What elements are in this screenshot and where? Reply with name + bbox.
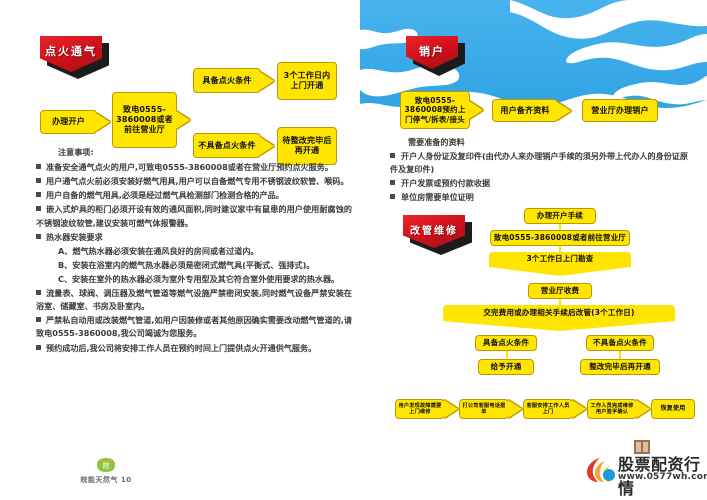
note-item: 预约成功后,我公司将安排工作人员在预约时间上门提供点火开通供气服务。 [36,342,352,355]
banner-cancel: 销户 [406,36,458,69]
note-text: 预约成功后,我公司将安排工作人员在预约时间上门提供点火开通供气服务。 [46,343,316,353]
left-notes: 注意事项: 准备安全通气点火的用户,可致电0555-3860008或者在营业厅预… [36,146,352,356]
cancel-flow-node-1-label: 致电0555-3860008预约上门停气/拆表/接头 [403,96,467,124]
right-note-item: 开户人身份证及复印件(由代办人来办理销户手续的须另外带上代办人的身份证原件及复印… [390,150,690,176]
repair-flow-node-3[interactable]: 3个工作日上门勘查 [489,252,631,276]
repair-branch-yes[interactable]: 具备点火条件 [475,335,537,351]
note-text: 嵌入式炉具的柜门必须开设有效的通风面积,同时建议家中有鼠患的用户使用耐腐蚀的不锈… [36,204,352,227]
connector-2 [559,246,561,252]
note-subitem: B、安装在浴室内的燃气热水器必须是密闭式燃气具(平衡式、强排式)。 [36,259,352,272]
note-subitem: C、安装在室外的热水器必须为室外专用型及其它符合室外使用要求的热水器。 [36,273,352,286]
banner-repair: 改管维修 [403,215,465,248]
note-item: 热水器安装要求 [36,231,352,244]
cancel-flow-node-3-label: 营业厅办理销户 [591,106,648,116]
flow-branch-yes-label: 具备点火条件 [202,76,251,86]
right-notes: 需要准备的资料 开户人身份证及复印件(由代办人来办理销户手续的须另外带上代办人的… [390,136,690,206]
repair-branch-no[interactable]: 不具备点火条件 [586,335,654,351]
repair-branch-no-result-label: 整改完毕后再开通 [589,362,651,371]
repair-flow-node-4[interactable]: 营业厅收费 [528,283,592,299]
repair-flow-node-5-label: 交完费用或办理相关手续后改管(3个工作日) [483,308,634,327]
bullet-square-icon [36,317,41,322]
banner-cancel-label: 销户 [419,43,445,59]
repair-branch-yes-label: 具备点火条件 [483,338,529,347]
bullet-square-icon [36,178,41,183]
right-note-item: 单位房需要单位证明 [390,191,690,204]
footer-logo-text: 皖能天然气 [80,476,118,484]
flow-node-start-label: 办理开户 [52,117,85,127]
connector-5 [619,351,621,359]
repair-flow-node-3-label: 3个工作日上门勘查 [526,254,593,273]
right-note-text: 开户人身份证及复印件(由代办人来办理销户手续的须另外带上代办人的身份证原件及复印… [390,151,688,174]
bottom-flow-node-3-label: 客服安排工作人员上门 [525,403,571,416]
right-note-text: 单位房需要单位证明 [401,192,474,202]
brochure-page: 点火通气 办理开户 致电0555-3860008或者前往营业厅 具备点火条件 3… [0,0,707,500]
banner-repair-label: 改管维修 [410,222,458,237]
right-notes-heading: 需要准备的资料 [390,136,690,149]
bottom-flow-node-3[interactable]: 客服安排工作人员上门 [523,399,573,419]
banner-ignition-label: 点火通气 [45,43,97,59]
bottom-flow-node-4[interactable]: 工作人员完成维修用户签字确认 [587,399,637,419]
bullet-square-icon [36,164,41,169]
note-item: 用户通气点火前必须安装好燃气用具,用户可以自备燃气专用不锈钢波纹软管、喉码。 [36,175,352,188]
note-text: 热水器安装要求 [46,232,103,242]
bottom-flow-node-5-label: 恢复使用 [661,405,686,413]
repair-branch-no-result[interactable]: 整改完毕后再开通 [580,359,660,375]
bullet-square-icon [390,180,395,185]
note-item: 严禁私自动用或改装燃气管道,如用户因装修或者其他原因确实需要改动燃气管道的,请致… [36,314,352,340]
note-item: 嵌入式炉具的柜门必须开设有效的通风面积,同时建议家中有鼠患的用户使用耐腐蚀的不锈… [36,203,352,229]
cancel-flow-node-2-label: 用户备齐资料 [500,106,549,116]
bottom-flow-node-2-label: 打公司客服电话报单 [461,403,507,416]
connector-4 [506,351,508,359]
note-item: 准备安全通气点火的用户,可致电0555-3860008或者在营业厅预约点火服务。 [36,161,352,174]
bottom-flow-node-2[interactable]: 打公司客服电话报单 [459,399,509,419]
footer-text: 皖能天然气 10 [36,475,176,485]
repair-flow-node-2[interactable]: 致电0555-3860008或者前往营业厅 [490,230,630,246]
watermark-logo-icon [584,454,616,486]
notes-heading: 注意事项: [36,146,352,159]
connector-3 [559,299,561,305]
bullet-square-icon [390,153,395,158]
cancel-flow-node-2[interactable]: 用户备齐资料 [492,99,558,122]
bullet-square-icon [36,192,41,197]
bullet-square-icon [36,290,41,295]
flow-branch-yes-result[interactable]: 3个工作日内上门开通 [277,62,337,100]
right-note-text: 开户发票或预约付款收据 [401,178,490,188]
watermark-url: www.0577wh.com [618,472,707,482]
right-note-item: 开户发票或预约付款收据 [390,177,690,190]
note-item: 用户自备的燃气用具,必须是经过燃气具检测部门检测合格的产品。 [36,189,352,202]
cancel-flow-node-1[interactable]: 致电0555-3860008预约上门停气/拆表/接头 [400,91,470,129]
flow-node-start[interactable]: 办理开户 [40,110,97,134]
repair-flow-node-1[interactable]: 办理开户手续 [524,208,596,224]
note-item: 流量表、球阀、调压器及燃气管道等燃气设施严禁密闭安装,同时燃气设备严禁安装在浴室… [36,287,352,313]
footer-page-number: 10 [121,476,132,484]
bullet-square-icon [36,345,41,350]
note-subitem: A、燃气热水器必须安装在通风良好的房间或者过道内。 [36,245,352,258]
flow-node-call-label: 致电0555-3860008或者前往营业厅 [116,105,173,135]
bottom-flow-node-5[interactable]: 恢复使用 [651,399,695,419]
left-footer: 皖 皖能天然气 10 [36,456,176,485]
repair-flow-node-1-label: 办理开户手续 [537,211,583,220]
flow-branch-yes-result-label: 3个工作日内上门开通 [280,71,334,91]
company-logo-icon: 皖 [95,456,117,474]
bottom-flow-node-1-label: 用户发现故障需要上门维修 [397,403,443,416]
repair-branch-yes-result[interactable]: 给予开通 [478,359,534,375]
repair-flow-node-5[interactable]: 交完费用或办理相关手续后改管(3个工作日) [443,305,675,331]
watermark: 股票配资行情 www.0577wh.com [584,450,702,494]
bottom-flow-node-4-label: 工作人员完成维修用户签字确认 [589,403,635,416]
note-text: 严禁私自动用或改装燃气管道,如用户因装修或者其他原因确实需要改动燃气管道的,请致… [36,315,352,338]
repair-flow-node-4-label: 营业厅收费 [541,286,580,295]
note-text: 用户通气点火前必须安装好燃气用具,用户可以自备燃气专用不锈钢波纹软管、喉码。 [46,176,349,186]
note-text: 用户自备的燃气用具,必须是经过燃气具检测部门检测合格的产品。 [46,190,284,200]
cancel-flow-node-3[interactable]: 营业厅办理销户 [582,99,658,122]
note-text: 流量表、球阀、调压器及燃气管道等燃气设施严禁密闭安装,同时燃气设备严禁安装在浴室… [36,288,352,311]
banner-ignition: 点火通气 [40,36,102,72]
repair-flow-node-2-label: 致电0555-3860008或者前往营业厅 [494,233,626,242]
bullet-square-icon [390,194,395,199]
repair-branch-yes-result-label: 给予开通 [491,362,522,371]
bottom-flow-node-1[interactable]: 用户发现故障需要上门维修 [395,399,445,419]
flow-node-call[interactable]: 致电0555-3860008或者前往营业厅 [112,92,177,148]
flow-branch-yes[interactable]: 具备点火条件 [193,68,261,93]
bullet-square-icon [36,234,41,239]
svg-text:皖: 皖 [103,461,110,470]
repair-branch-no-label: 不具备点火条件 [593,338,647,347]
bullet-square-icon [36,206,41,211]
note-text: 准备安全通气点火的用户,可致电0555-3860008或者在营业厅预约点火服务。 [46,162,333,172]
